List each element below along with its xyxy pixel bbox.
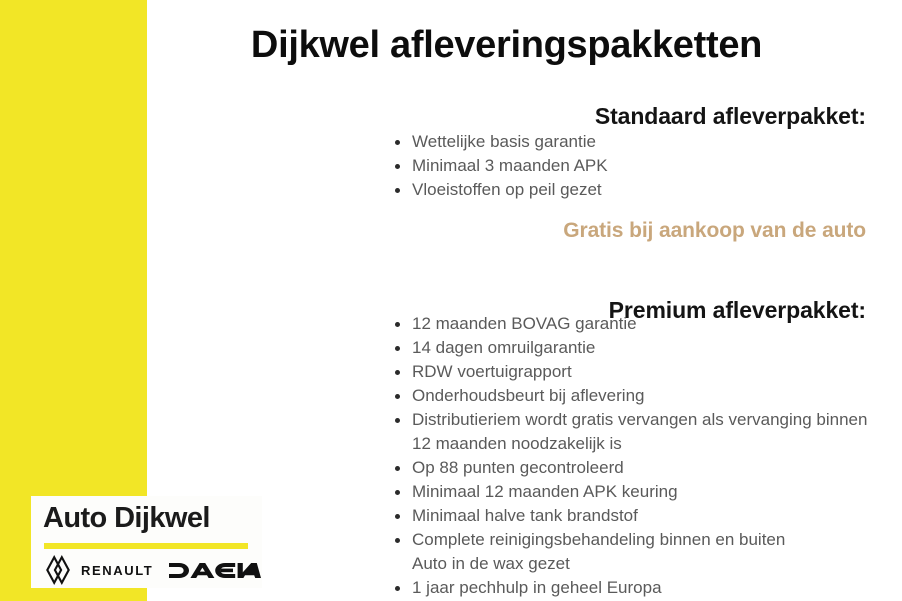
- list-item: 12 maanden BOVAG garantie: [384, 312, 884, 336]
- standard-package-list: Wettelijke basis garantie Minimaal 3 maa…: [384, 130, 884, 202]
- logo-accent-rule: [44, 543, 248, 549]
- list-item-text: Complete reinigingsbehandeling binnen en…: [412, 530, 785, 549]
- list-item-text: Op 88 punten gecontroleerd: [412, 458, 624, 477]
- list-item: Vloeistoffen op peil gezet: [384, 178, 884, 202]
- list-item-text: Minimaal 3 maanden APK: [412, 156, 608, 175]
- list-item-text: 14 dagen omruilgarantie: [412, 338, 595, 357]
- list-item-text: Onderhoudsbeurt bij aflevering: [412, 386, 644, 405]
- dealer-wordmark: Auto Dijkwel: [43, 502, 210, 535]
- list-item: Wettelijke basis garantie: [384, 130, 884, 154]
- list-item-text: RDW voertuigrapport: [412, 362, 572, 381]
- renault-diamond-icon: [43, 555, 73, 590]
- renault-label: RENAULT: [81, 563, 153, 578]
- list-item-text: 1 jaar pechhulp in geheel Europa: [412, 578, 662, 597]
- list-item-text: 12 maanden BOVAG garantie: [412, 314, 637, 333]
- list-item-text: Distributieriem wordt gratis vervangen a…: [412, 410, 867, 453]
- list-item: Complete reinigingsbehandeling binnen en…: [384, 528, 884, 576]
- free-with-purchase-note: Gratis bij aankoop van de auto: [147, 219, 866, 243]
- dacia-wordmark-icon: [169, 562, 261, 584]
- list-item: 14 dagen omruilgarantie: [384, 336, 884, 360]
- list-item-text: Vloeistoffen op peil gezet: [412, 180, 602, 199]
- standard-package-heading: Standaard afleverpakket:: [147, 103, 866, 130]
- list-item: Minimaal halve tank brandstof: [384, 504, 884, 528]
- list-item: Minimaal 12 maanden APK keuring: [384, 480, 884, 504]
- list-item: 1 jaar pechhulp in geheel Europa: [384, 576, 884, 600]
- list-item: Onderhoudsbeurt bij aflevering: [384, 384, 884, 408]
- list-item: Op 88 punten gecontroleerd: [384, 456, 884, 480]
- list-item-text: Minimaal 12 maanden APK keuring: [412, 482, 678, 501]
- dealer-logo: Auto Dijkwel RENAULT: [31, 496, 262, 588]
- list-item-text: Wettelijke basis garantie: [412, 132, 596, 151]
- delivery-packages-poster: Dijkwel afleveringspakketten Standaard a…: [0, 0, 902, 601]
- list-item: RDW voertuigrapport: [384, 360, 884, 384]
- premium-package-list: 12 maanden BOVAG garantie 14 dagen omrui…: [384, 312, 884, 600]
- list-item-text: Minimaal halve tank brandstof: [412, 506, 638, 525]
- list-item-continuation: Auto in de wax gezet: [412, 552, 884, 576]
- list-item: Distributieriem wordt gratis vervangen a…: [384, 408, 884, 456]
- brand-row: RENAULT: [41, 554, 262, 586]
- page-title: Dijkwel afleveringspakketten: [147, 22, 866, 70]
- list-item: Minimaal 3 maanden APK: [384, 154, 884, 178]
